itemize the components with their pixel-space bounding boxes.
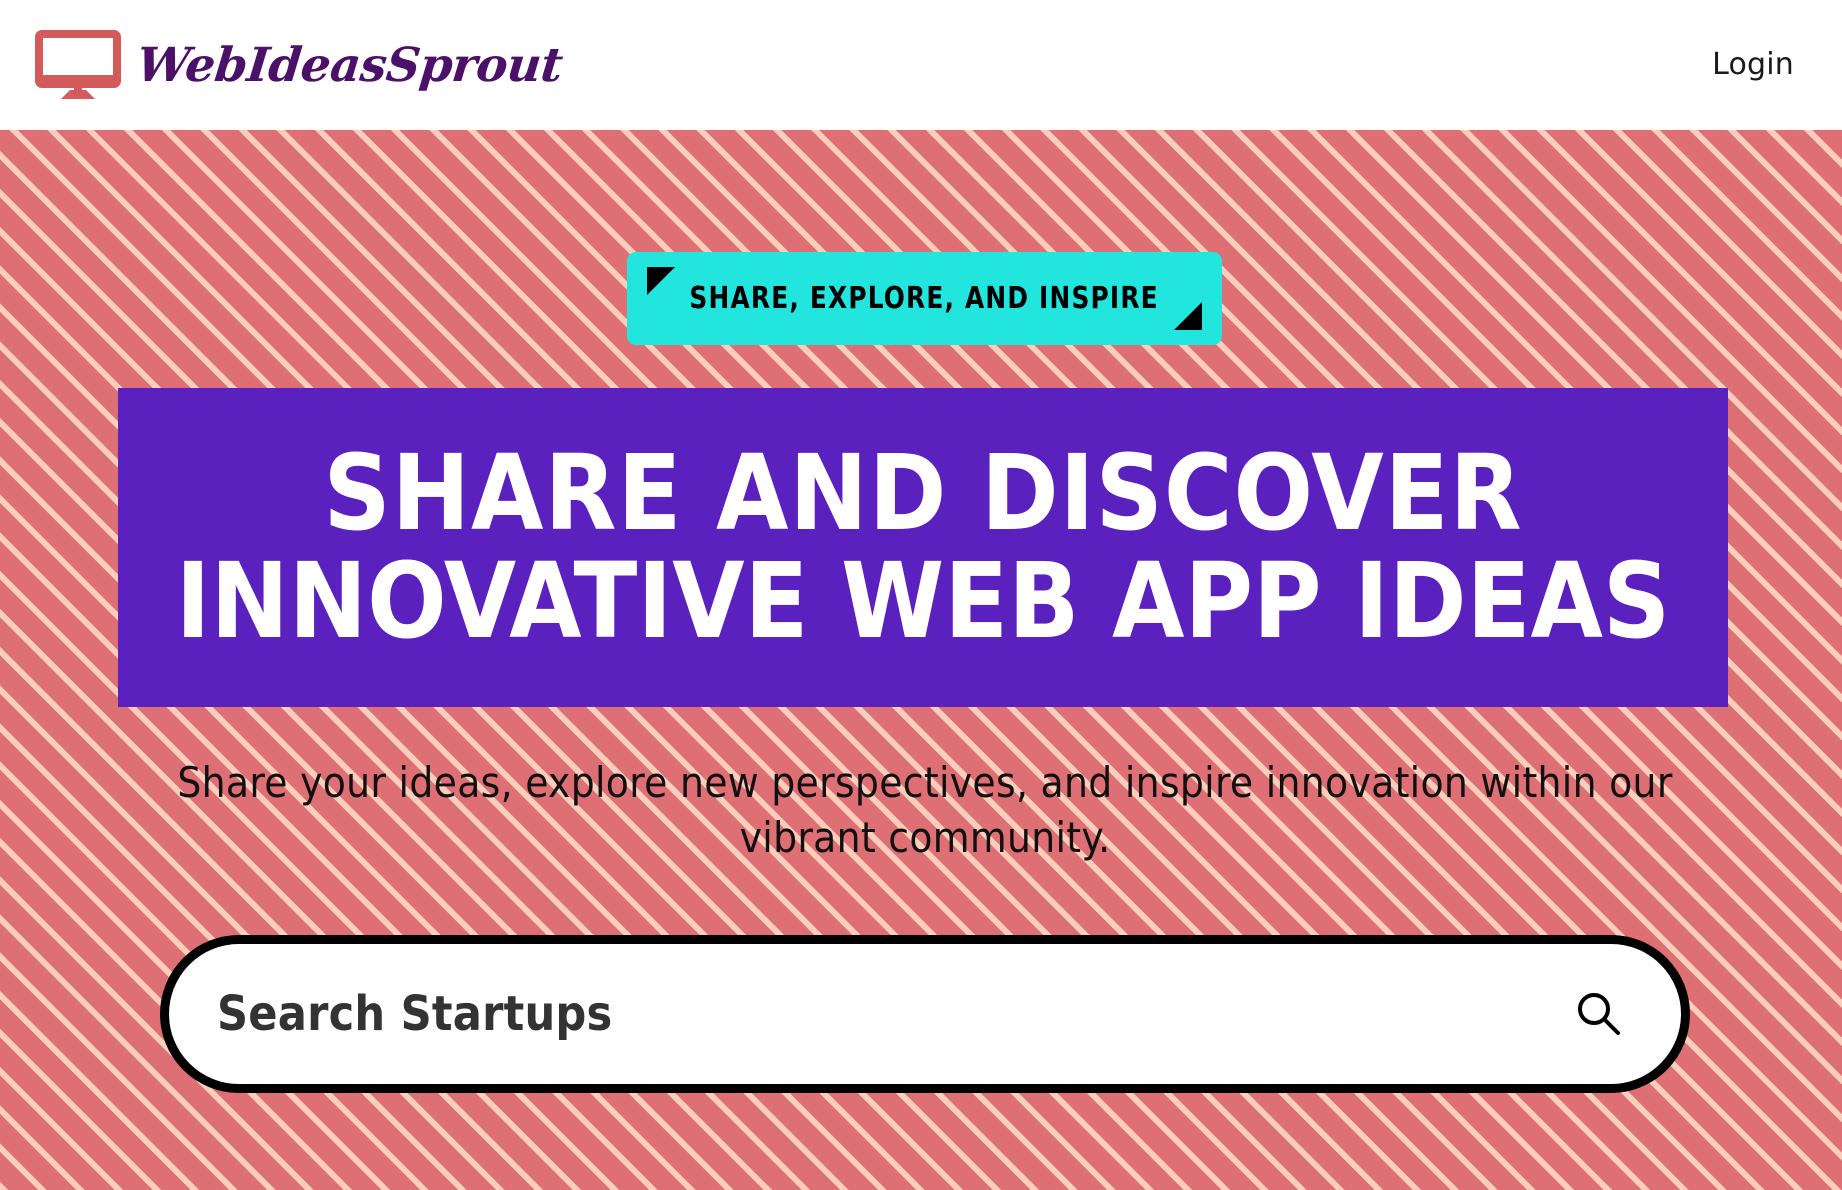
landing-page: WebIdeasSprout Login SHARE, EXPLORE, AND…: [0, 0, 1842, 1190]
tagline-badge-label: SHARE, EXPLORE, AND INSPIRE: [690, 281, 1159, 316]
search-submit-button[interactable]: [1569, 984, 1629, 1044]
brand-logo[interactable]: WebIdeasSprout: [35, 30, 562, 100]
headline-block: SHARE AND DISCOVER INNOVATIVE WEB APP ID…: [118, 388, 1728, 707]
hero-section: SHARE, EXPLORE, AND INSPIRE SHARE AND DI…: [0, 130, 1842, 1190]
headline-line-2: INNOVATIVE WEB APP IDEAS: [176, 548, 1671, 655]
monitor-icon: [35, 30, 121, 100]
hero-subtitle: Share your ideas, explore new perspectiv…: [160, 755, 1690, 866]
triangle-corner-icon-bottom-right: [1174, 302, 1202, 330]
search-input[interactable]: [217, 979, 1569, 1049]
headline-line-1: SHARE AND DISCOVER: [323, 440, 1522, 547]
site-header: WebIdeasSprout Login: [0, 0, 1842, 130]
search-bar[interactable]: [160, 935, 1690, 1093]
triangle-corner-icon-top-left: [647, 267, 675, 295]
brand-wordmark: WebIdeasSprout: [135, 42, 565, 89]
search-icon: [1573, 988, 1625, 1040]
login-link[interactable]: Login: [1704, 44, 1802, 86]
tagline-badge: SHARE, EXPLORE, AND INSPIRE: [627, 252, 1222, 345]
